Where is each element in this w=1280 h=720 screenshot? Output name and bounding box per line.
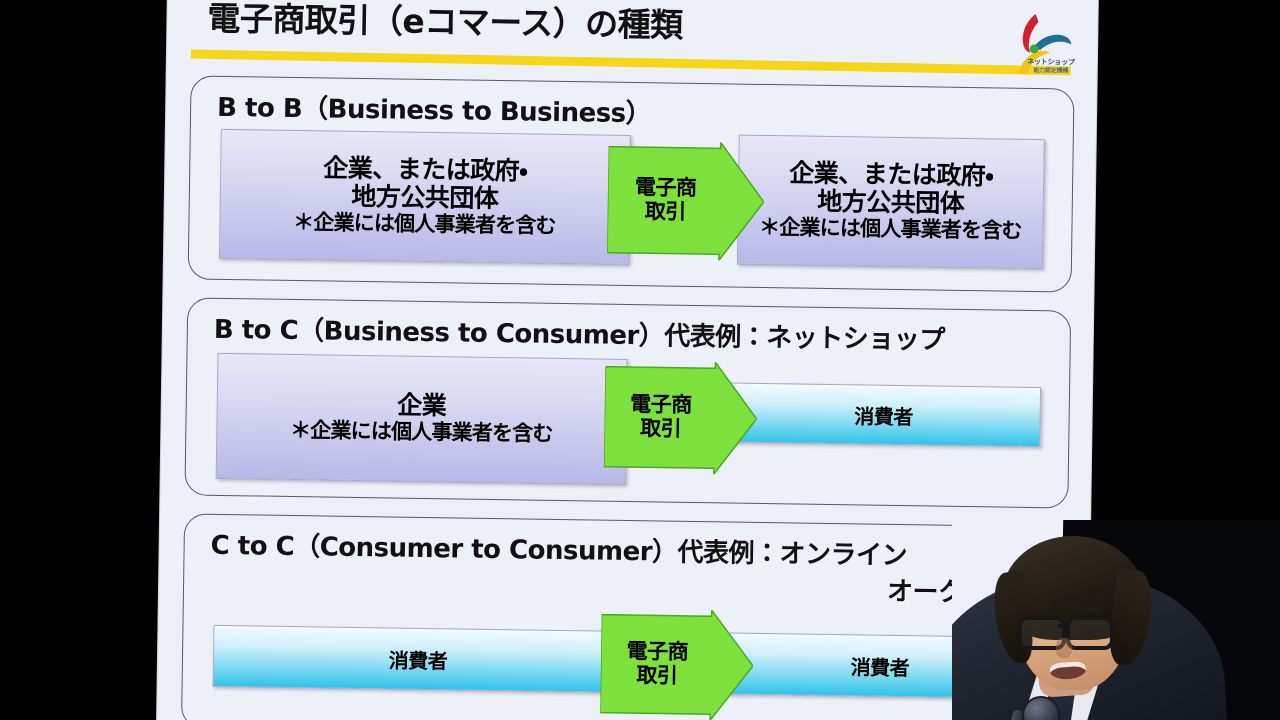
flow-arrow-b2c: 電子商 取引	[604, 361, 758, 475]
logo-text: ネットショップ 能力認定機構	[1021, 58, 1081, 75]
flow-arrow-b2b-label-line1: 電子商	[635, 177, 697, 201]
title-underline-rule	[191, 50, 1071, 76]
actor-box-c2c-left: 消費者	[213, 625, 624, 693]
flow-arrow-b2b-label-line2: 取引	[645, 200, 686, 224]
section-panel-b2b: B to B（Business to Business） 企業、または政府・ 地…	[188, 75, 1075, 292]
section-panel-b2c: B to C（Business to Consumer）代表例：ネットショップ …	[184, 297, 1071, 508]
flow-arrow-b2b-label: 電子商 取引	[607, 141, 724, 261]
flow-arrow-c2c: 電子商 取引	[600, 609, 754, 720]
actor-box-c2c-right-line1: 消費者	[850, 651, 909, 681]
flow-arrow-b2c-label-line1: 電子商	[630, 393, 692, 417]
actor-box-b2c-left: 企業 ＊企業には個人事業者を含む	[216, 353, 628, 485]
flow-arrow-b2c-label-line2: 取引	[640, 417, 681, 441]
actor-box-b2b-right-line2: 地方公共団体	[817, 188, 964, 218]
presenter-glasses-bridge	[1058, 624, 1068, 628]
flow-arrow-b2b: 電子商 取引	[607, 141, 765, 261]
actor-box-b2b-left: 企業、または政府・ 地方公共団体 ＊企業には個人事業者を含む	[219, 129, 631, 265]
actor-box-b2b-left-note: ＊企業には個人事業者を含む	[293, 210, 556, 239]
actor-box-b2c-right-line1: 消費者	[854, 400, 913, 430]
presenter-video-inset	[952, 520, 1280, 720]
logo-text-line2: 能力認定機構	[1021, 67, 1081, 75]
actor-box-b2c-left-note: ＊企業には個人事業者を含む	[290, 418, 553, 447]
section-panel-c2c: C to C（Consumer to Consumer）代表例：オンライン オー…	[181, 513, 1068, 720]
section-heading-b2c: B to C（Business to Consumer）代表例：ネットショップ	[214, 309, 945, 357]
actor-box-b2b-left-line1: 企業、または政府・	[323, 155, 527, 186]
actor-box-b2b-right-line1: 企業、または政府・	[789, 160, 993, 191]
actor-box-b2b-left-line2: 地方公共団体	[351, 183, 498, 213]
section-heading-b2b: B to B（Business to Business）	[217, 87, 652, 130]
actor-box-b2c-right: 消費者	[726, 382, 1041, 447]
actor-box-b2b-right-note: ＊企業には個人事業者を含む	[759, 215, 1022, 244]
flow-arrow-c2c-label-line1: 電子商	[626, 640, 688, 664]
video-frame: 電子商取引（eコマース）の種類 ネットショップ 能力認定機構 B to B（Bu…	[0, 0, 1280, 720]
flow-arrow-c2c-label: 電子商 取引	[600, 609, 714, 720]
flow-arrow-c2c-label-line2: 取引	[636, 664, 677, 688]
presenter-nose	[1056, 638, 1072, 658]
actor-box-b2c-left-line1: 企業	[397, 392, 446, 421]
actor-box-c2c-left-line1: 消費者	[389, 644, 448, 674]
slide-title: 電子商取引（eコマース）の種類	[207, 0, 683, 47]
actor-box-b2b-right: 企業、または政府・ 地方公共団体 ＊企業には個人事業者を含む	[737, 135, 1045, 270]
presenter-glasses-right-lens	[1066, 616, 1114, 650]
section-heading-c2c: C to C（Consumer to Consumer）代表例：オンライン	[210, 525, 907, 572]
netshop-certification-logo: ネットショップ 能力認定機構	[1005, 8, 1080, 85]
flow-arrow-b2c-label: 電子商 取引	[604, 361, 718, 475]
logo-text-line1: ネットショップ	[1021, 58, 1081, 68]
